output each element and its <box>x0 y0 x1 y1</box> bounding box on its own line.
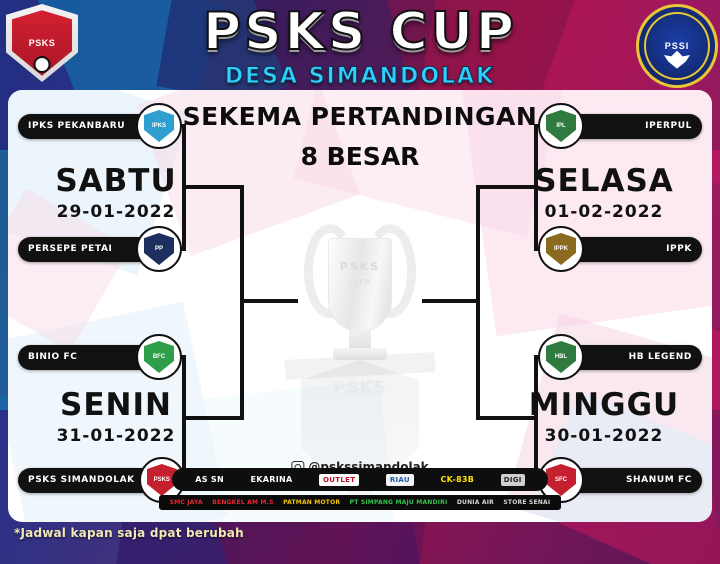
crest-badge: IPKS <box>144 110 174 142</box>
bracket-team-persepe-petai[interactable]: PERSEPE PETAI PP <box>18 227 182 271</box>
trophy-label-psks: PSKS <box>300 260 420 273</box>
date-label: 01-02-2022 <box>524 202 684 222</box>
heading-line-2: 8 BESAR <box>150 142 570 171</box>
sponsor-text-4: PT SIMPANG MAJU MANDIRI <box>350 499 448 506</box>
match-day-selasa: SELASA 01-02-2022 <box>524 166 684 222</box>
sponsor-text-1: SMC JAYA <box>170 499 203 506</box>
footer-note-text: *Jadwal kapan saja dpat berubah <box>14 526 244 540</box>
crest-badge: BFC <box>144 341 174 373</box>
sponsor-text-3: PATMAN MOTOR <box>283 499 340 506</box>
sponsor-logo-ekarina: EKARINA <box>251 475 293 484</box>
day-label: MINGGU <box>524 390 684 421</box>
bracket-team-hb-legend[interactable]: HB LEGEND HBL <box>538 335 702 379</box>
persepe-petai-crest: PP <box>136 226 182 272</box>
ipks-pekanbaru-crest: IPKS <box>136 103 182 149</box>
team-label: IPKS PEKANBARU <box>28 121 125 131</box>
sponsor-text-6: STORE SENAI <box>503 499 550 506</box>
team-label: IPERPUL <box>645 121 692 131</box>
bracket-team-shanum-fc[interactable]: SHANUM FC SFC <box>538 458 702 502</box>
crest-badge: SFC <box>546 464 576 496</box>
poster-header: PSKS PSKS CUP DESA SIMANDOLAK PSSI <box>0 0 720 88</box>
binio-fc-crest: BFC <box>136 334 182 380</box>
watermark-text: PSKS <box>333 378 387 398</box>
sponsor-logo-assn: AS SN <box>195 475 224 484</box>
team-label: PERSEPE PETAI <box>28 244 112 254</box>
crest-badge: IPL <box>546 110 576 142</box>
team-label: BINIO FC <box>28 352 77 362</box>
crest-badge: HBL <box>546 341 576 373</box>
pssi-logo: PSSI <box>636 4 712 82</box>
sponsor-text-5: DUNIA AIR <box>457 499 494 506</box>
match-day-sabtu: SABTU 29-01-2022 <box>36 166 196 222</box>
bracket-line <box>422 299 480 303</box>
day-label: SELASA <box>524 166 684 197</box>
bracket-team-binio-fc[interactable]: BINIO FC BFC <box>18 335 182 379</box>
crest-badge: PP <box>144 233 174 265</box>
page-subtitle: DESA SIMANDOLAK <box>0 64 720 89</box>
bracket-line <box>240 299 298 303</box>
sponsor-bar-primary: AS SN EKARINA OUTLET RIAU CK-83B DIGI <box>172 468 548 491</box>
bracket-team-iperpul[interactable]: IPERPUL IPL <box>538 104 702 148</box>
sponsor-logo-outlet: OUTLET <box>319 474 359 486</box>
bracket-panel: SEKEMA PERTANDINGAN 8 BESAR IPKS PEKANBA… <box>8 90 712 522</box>
date-label: 31-01-2022 <box>36 426 196 446</box>
trophy-label-cup: CUP <box>300 278 420 287</box>
ippk-crest: IPPK <box>538 226 584 272</box>
tournament-bracket-poster: PSKS PSKS CUP DESA SIMANDOLAK PSSI SEKEM… <box>0 0 720 564</box>
team-label: PSKS SIMANDOLAK <box>28 475 135 485</box>
bracket-team-ipks-pekanbaru[interactable]: IPKS PEKANBARU IPKS <box>18 104 182 148</box>
match-day-senin: SENIN 31-01-2022 <box>36 390 196 446</box>
footer-note: *Jadwal kapan saja dpat berubah <box>14 524 244 542</box>
iperpul-crest: IPL <box>538 103 584 149</box>
crest-badge: IPPK <box>546 233 576 265</box>
match-day-minggu: MINGGU 30-01-2022 <box>524 390 684 446</box>
date-label: 30-01-2022 <box>524 426 684 446</box>
center-trophy-group: PSKS CUP PSKS @pskssimandolak <box>260 220 460 470</box>
team-label: HB LEGEND <box>629 352 692 362</box>
sponsor-logo-ck83b: CK-83B <box>440 475 474 484</box>
bracket-heading: SEKEMA PERTANDINGAN 8 BESAR <box>150 104 570 171</box>
page-title: PSKS CUP <box>0 6 720 58</box>
date-label: 29-01-2022 <box>36 202 196 222</box>
sponsor-bar-secondary: SMC JAYA BENGKEL AM M.S PATMAN MOTOR PT … <box>159 495 561 510</box>
sponsor-logo-riau: RIAU <box>386 474 414 486</box>
bracket-team-ippk[interactable]: IPPK IPPK <box>538 227 702 271</box>
sponsor-text-2: BENGKEL AM M.S <box>212 499 273 506</box>
heading-line-1: SEKEMA PERTANDINGAN <box>150 104 570 130</box>
trophy-icon: PSKS CUP <box>300 220 420 370</box>
team-label: IPPK <box>666 244 692 254</box>
hb-legend-crest: HBL <box>538 334 584 380</box>
day-label: SENIN <box>36 390 196 421</box>
team-label: SHANUM FC <box>626 475 692 485</box>
day-label: SABTU <box>36 166 196 197</box>
sponsor-logo-digi: DIGI <box>501 474 525 486</box>
